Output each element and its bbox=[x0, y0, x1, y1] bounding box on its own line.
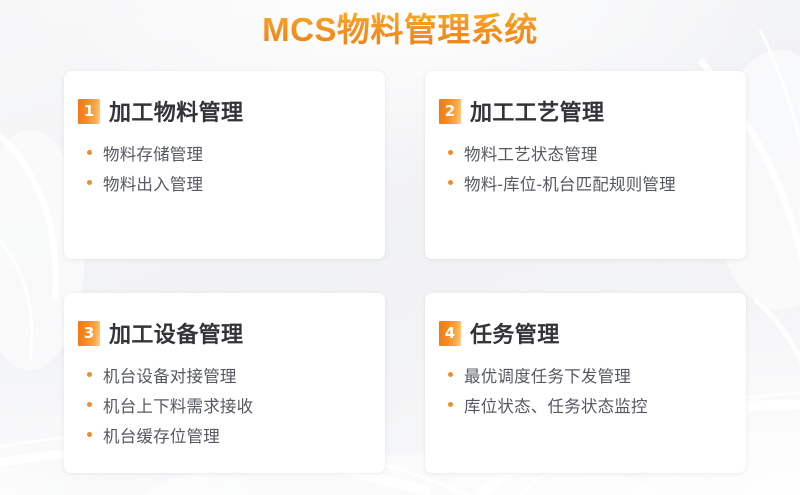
list-item-label: 物料工艺状态管理 bbox=[464, 140, 598, 170]
bullet-dot-icon bbox=[87, 372, 92, 377]
card-title: 加工设备管理 bbox=[109, 317, 243, 349]
list-item: 物料存储管理 bbox=[78, 140, 369, 170]
bullet-dot-icon bbox=[87, 432, 92, 437]
bullet-dot-icon bbox=[87, 150, 92, 155]
card-header: 1 加工物料管理 bbox=[78, 95, 369, 127]
bullet-dot-icon bbox=[87, 180, 92, 185]
card-header: 4 任务管理 bbox=[439, 317, 730, 349]
card-title: 加工工艺管理 bbox=[470, 95, 604, 127]
list-item-label: 机台缓存位管理 bbox=[103, 422, 220, 452]
card-header: 3 加工设备管理 bbox=[78, 317, 369, 349]
list-item-label: 库位状态、任务状态监控 bbox=[464, 392, 648, 422]
list-item-label: 物料出入管理 bbox=[103, 170, 203, 200]
card-number-badge: 2 bbox=[439, 99, 461, 124]
card-feature-list: 物料工艺状态管理 物料-库位-机台匹配规则管理 bbox=[439, 140, 730, 200]
list-item-label: 物料存储管理 bbox=[103, 140, 203, 170]
card-feature-list: 物料存储管理 物料出入管理 bbox=[78, 140, 369, 200]
bullet-dot-icon bbox=[448, 402, 453, 407]
bullet-dot-icon bbox=[87, 402, 92, 407]
list-item: 物料-库位-机台匹配规则管理 bbox=[439, 170, 730, 200]
list-item: 机台设备对接管理 bbox=[78, 362, 369, 392]
list-item: 库位状态、任务状态监控 bbox=[439, 392, 730, 422]
bullet-dot-icon bbox=[448, 180, 453, 185]
card-number-badge: 1 bbox=[78, 99, 100, 124]
list-item-label: 机台设备对接管理 bbox=[103, 362, 237, 392]
list-item-label: 物料-库位-机台匹配规则管理 bbox=[464, 170, 676, 200]
card-number-badge: 3 bbox=[78, 321, 100, 346]
list-item-label: 机台上下料需求接收 bbox=[103, 392, 253, 422]
feature-card[interactable]: 4 任务管理 最优调度任务下发管理 库位状态、任务状态监控 bbox=[425, 293, 746, 473]
card-header: 2 加工工艺管理 bbox=[439, 95, 730, 127]
card-feature-list: 机台设备对接管理 机台上下料需求接收 机台缓存位管理 bbox=[78, 362, 369, 452]
bullet-dot-icon bbox=[448, 372, 453, 377]
feature-card[interactable]: 3 加工设备管理 机台设备对接管理 机台上下料需求接收 机台缓存位管理 bbox=[64, 293, 385, 473]
list-item: 物料工艺状态管理 bbox=[439, 140, 730, 170]
feature-card[interactable]: 2 加工工艺管理 物料工艺状态管理 物料-库位-机台匹配规则管理 bbox=[425, 71, 746, 259]
list-item: 物料出入管理 bbox=[78, 170, 369, 200]
feature-card-grid: 1 加工物料管理 物料存储管理 物料出入管理 2 加工工艺管理 物料工艺状态管理 bbox=[64, 71, 746, 473]
list-item: 机台缓存位管理 bbox=[78, 422, 369, 452]
card-title: 任务管理 bbox=[470, 317, 560, 349]
list-item-label: 最优调度任务下发管理 bbox=[464, 362, 631, 392]
bullet-dot-icon bbox=[448, 150, 453, 155]
list-item: 机台上下料需求接收 bbox=[78, 392, 369, 422]
list-item: 最优调度任务下发管理 bbox=[439, 362, 730, 392]
feature-card[interactable]: 1 加工物料管理 物料存储管理 物料出入管理 bbox=[64, 71, 385, 259]
card-feature-list: 最优调度任务下发管理 库位状态、任务状态监控 bbox=[439, 362, 730, 422]
card-number-badge: 4 bbox=[439, 321, 461, 346]
page-title: MCS物料管理系统 bbox=[0, 8, 800, 52]
card-title: 加工物料管理 bbox=[109, 95, 243, 127]
